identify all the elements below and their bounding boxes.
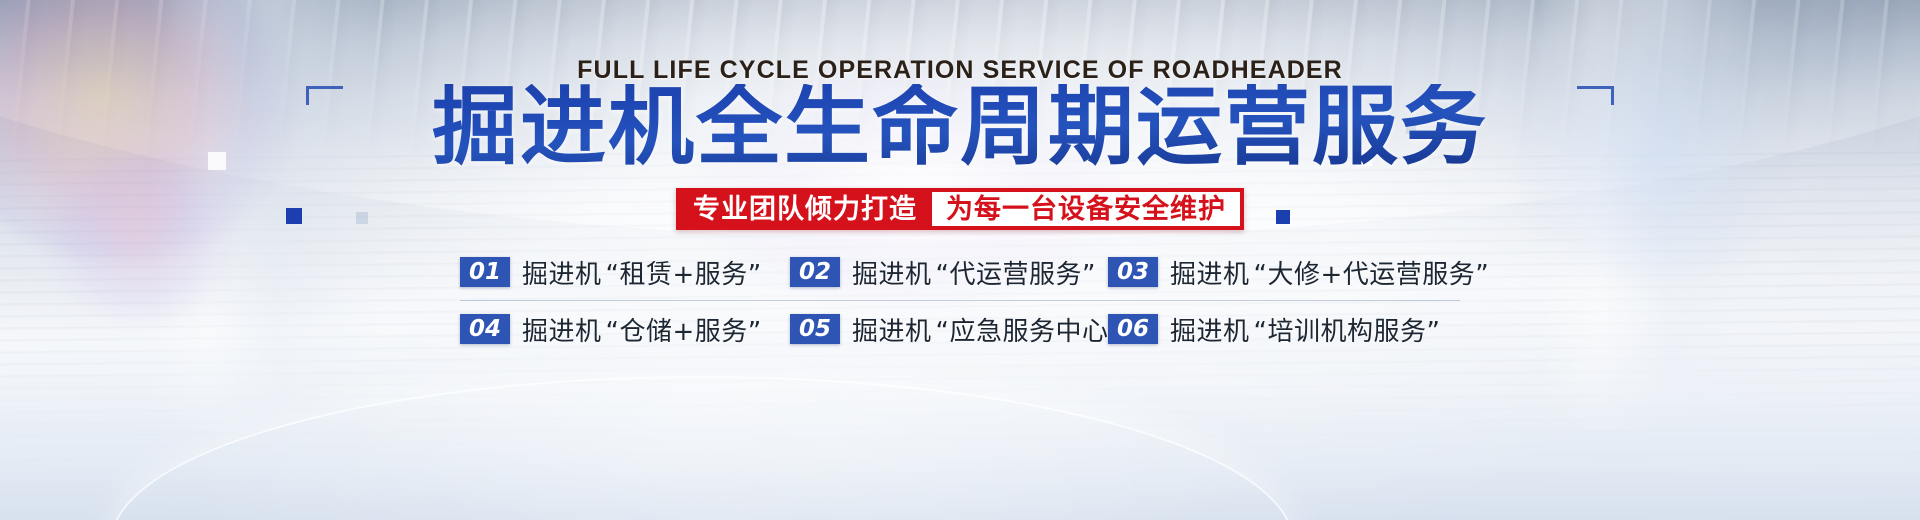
service-item-06[interactable]: 06 掘进机“培训机构服务”	[1108, 311, 1460, 348]
service-label-quoted: “代运营服务”	[936, 260, 1096, 290]
service-number-badge: 05	[790, 314, 840, 344]
service-item-04[interactable]: 04 掘进机“仓储+服务”	[460, 311, 790, 348]
service-row-1: 01 掘进机“租赁+服务” 02 掘进机“代运营服务” 03 掘进机“大修+代运…	[460, 244, 1460, 301]
roadheader-promo-banner: FULL LIFE CYCLE OPERATION SERVICE OF ROA…	[0, 0, 1920, 520]
service-label-prefix: 掘进机	[852, 317, 932, 347]
service-label-prefix: 掘进机	[522, 317, 602, 347]
service-label-quoted: “仓储+服务”	[606, 317, 762, 347]
service-number-badge: 06	[1108, 314, 1158, 344]
service-label: 掘进机“培训机构服务”	[1170, 311, 1440, 348]
banner-headline: 掘进机全生命周期运营服务	[0, 84, 1920, 170]
service-number-badge: 02	[790, 257, 840, 287]
service-item-02[interactable]: 02 掘进机“代运营服务”	[790, 254, 1108, 291]
service-number-badge: 01	[460, 257, 510, 287]
service-label-quoted: “大修+代运营服务”	[1254, 260, 1490, 290]
service-label-prefix: 掘进机	[522, 260, 602, 290]
service-label: 掘进机“代运营服务”	[852, 254, 1096, 291]
service-label-prefix: 掘进机	[1170, 317, 1250, 347]
banner-strapline: 专业团队倾力打造 为每一台设备安全维护	[676, 188, 1244, 230]
strapline-right-text: 为每一台设备安全维护	[932, 192, 1240, 226]
service-label-quoted: “应急服务中心”	[936, 317, 1123, 347]
service-label: 掘进机“租赁+服务”	[522, 254, 762, 291]
service-list: 01 掘进机“租赁+服务” 02 掘进机“代运营服务” 03 掘进机“大修+代运…	[460, 244, 1460, 357]
service-item-05[interactable]: 05 掘进机“应急服务中心”	[790, 311, 1108, 348]
strapline-left-text: 专业团队倾力打造	[678, 190, 930, 228]
service-label-quoted: “租赁+服务”	[606, 260, 762, 290]
service-label-quoted: “培训机构服务”	[1254, 317, 1441, 347]
service-label: 掘进机“应急服务中心”	[852, 311, 1122, 348]
service-label-prefix: 掘进机	[1170, 260, 1250, 290]
service-item-03[interactable]: 03 掘进机“大修+代运营服务”	[1108, 254, 1460, 291]
service-label: 掘进机“大修+代运营服务”	[1170, 254, 1489, 291]
service-label: 掘进机“仓储+服务”	[522, 311, 762, 348]
service-number-badge: 04	[460, 314, 510, 344]
service-item-01[interactable]: 01 掘进机“租赁+服务”	[460, 254, 790, 291]
banner-content: FULL LIFE CYCLE OPERATION SERVICE OF ROA…	[0, 0, 1920, 520]
service-row-2: 04 掘进机“仓储+服务” 05 掘进机“应急服务中心” 06 掘进机“培训机构…	[460, 301, 1460, 357]
service-number-badge: 03	[1108, 257, 1158, 287]
service-label-prefix: 掘进机	[852, 260, 932, 290]
